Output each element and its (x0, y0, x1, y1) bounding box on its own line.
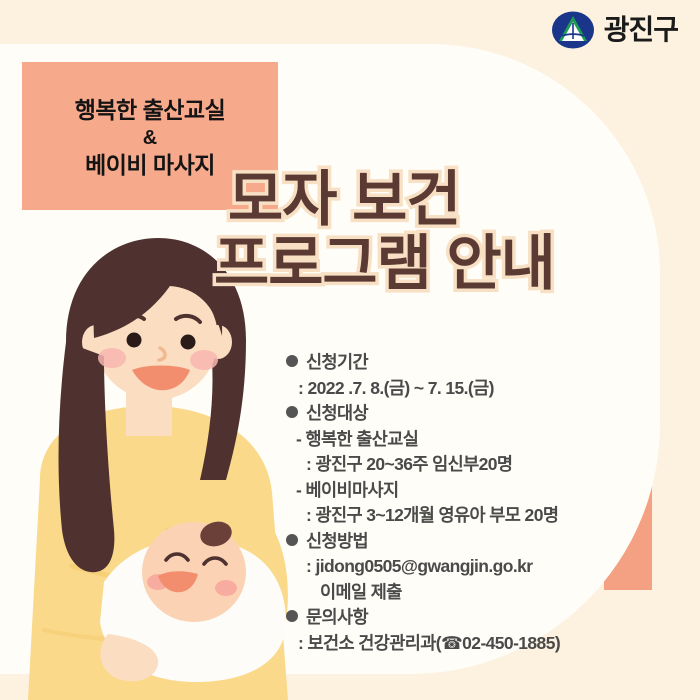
info-row: : 2022 .7. 8.(금) ~ 7. 15.(금) (286, 376, 686, 402)
info-label: 신청방법 (306, 529, 368, 555)
info-value: 이메일 제출 (320, 580, 402, 606)
info-value: - 행복한 출산교실 (296, 427, 418, 453)
phone-value[interactable]: : 보건소 건강관리과(☎02-450-1885) (298, 631, 560, 657)
info-label: 신청기간 (306, 350, 368, 376)
bullet-icon (286, 355, 298, 367)
info-row: : 광진구 3~12개월 영유아 부모 20명 (286, 503, 686, 529)
bullet-icon (286, 534, 298, 546)
email-value[interactable]: : jidong0505@gwangjin.go.kr (306, 554, 532, 580)
info-row: : 광진구 20~36주 임신부20명 (286, 452, 686, 478)
info-label: 신청대상 (306, 401, 368, 427)
info-label: 문의사항 (306, 605, 368, 631)
page-title: 모자 보건 프로그램 안내 (228, 168, 688, 296)
info-row-email[interactable]: : jidong0505@gwangjin.go.kr (286, 554, 686, 580)
bullet-icon (286, 610, 298, 622)
info-row: 신청방법 (286, 529, 686, 555)
info-row: - 베이비마사지 (286, 478, 686, 504)
info-value: : 광진구 3~12개월 영유아 부모 20명 (306, 503, 558, 529)
info-row: 문의사항 (286, 605, 686, 631)
info-row: - 행복한 출산교실 (286, 427, 686, 453)
info-value: - 베이비마사지 (296, 478, 399, 504)
info-value: : 2022 .7. 8.(금) ~ 7. 15.(금) (298, 376, 494, 402)
info-row: 신청기간 (286, 350, 686, 376)
subtitle-line-1: 행복한 출산교실 (75, 96, 226, 125)
page-title-line-2: 프로그램 안내 (214, 232, 688, 296)
info-row: 신청대상 (286, 401, 686, 427)
subtitle-ampersand: & (143, 127, 157, 149)
program-info-list: 신청기간 : 2022 .7. 8.(금) ~ 7. 15.(금) 신청대상 -… (286, 350, 686, 657)
bullet-icon (286, 406, 298, 418)
page-title-line-1: 모자 보건 (228, 168, 688, 232)
poster-root: 광진구 행복한 출산교실 & 베이비 마사지 모자 보건 프로그램 안내 (0, 0, 700, 700)
gwangjin-gu-emblem-icon (551, 10, 595, 50)
info-value: : 광진구 20~36주 임신부20명 (306, 452, 512, 478)
gwangjin-gu-logo: 광진구 (551, 10, 678, 50)
mother-holding-baby-illustration (0, 230, 330, 700)
logo-text: 광진구 (604, 16, 678, 44)
info-row-phone[interactable]: : 보건소 건강관리과(☎02-450-1885) (286, 631, 686, 657)
subtitle-line-2: 베이비 마사지 (85, 151, 215, 180)
info-row: 이메일 제출 (286, 580, 686, 606)
